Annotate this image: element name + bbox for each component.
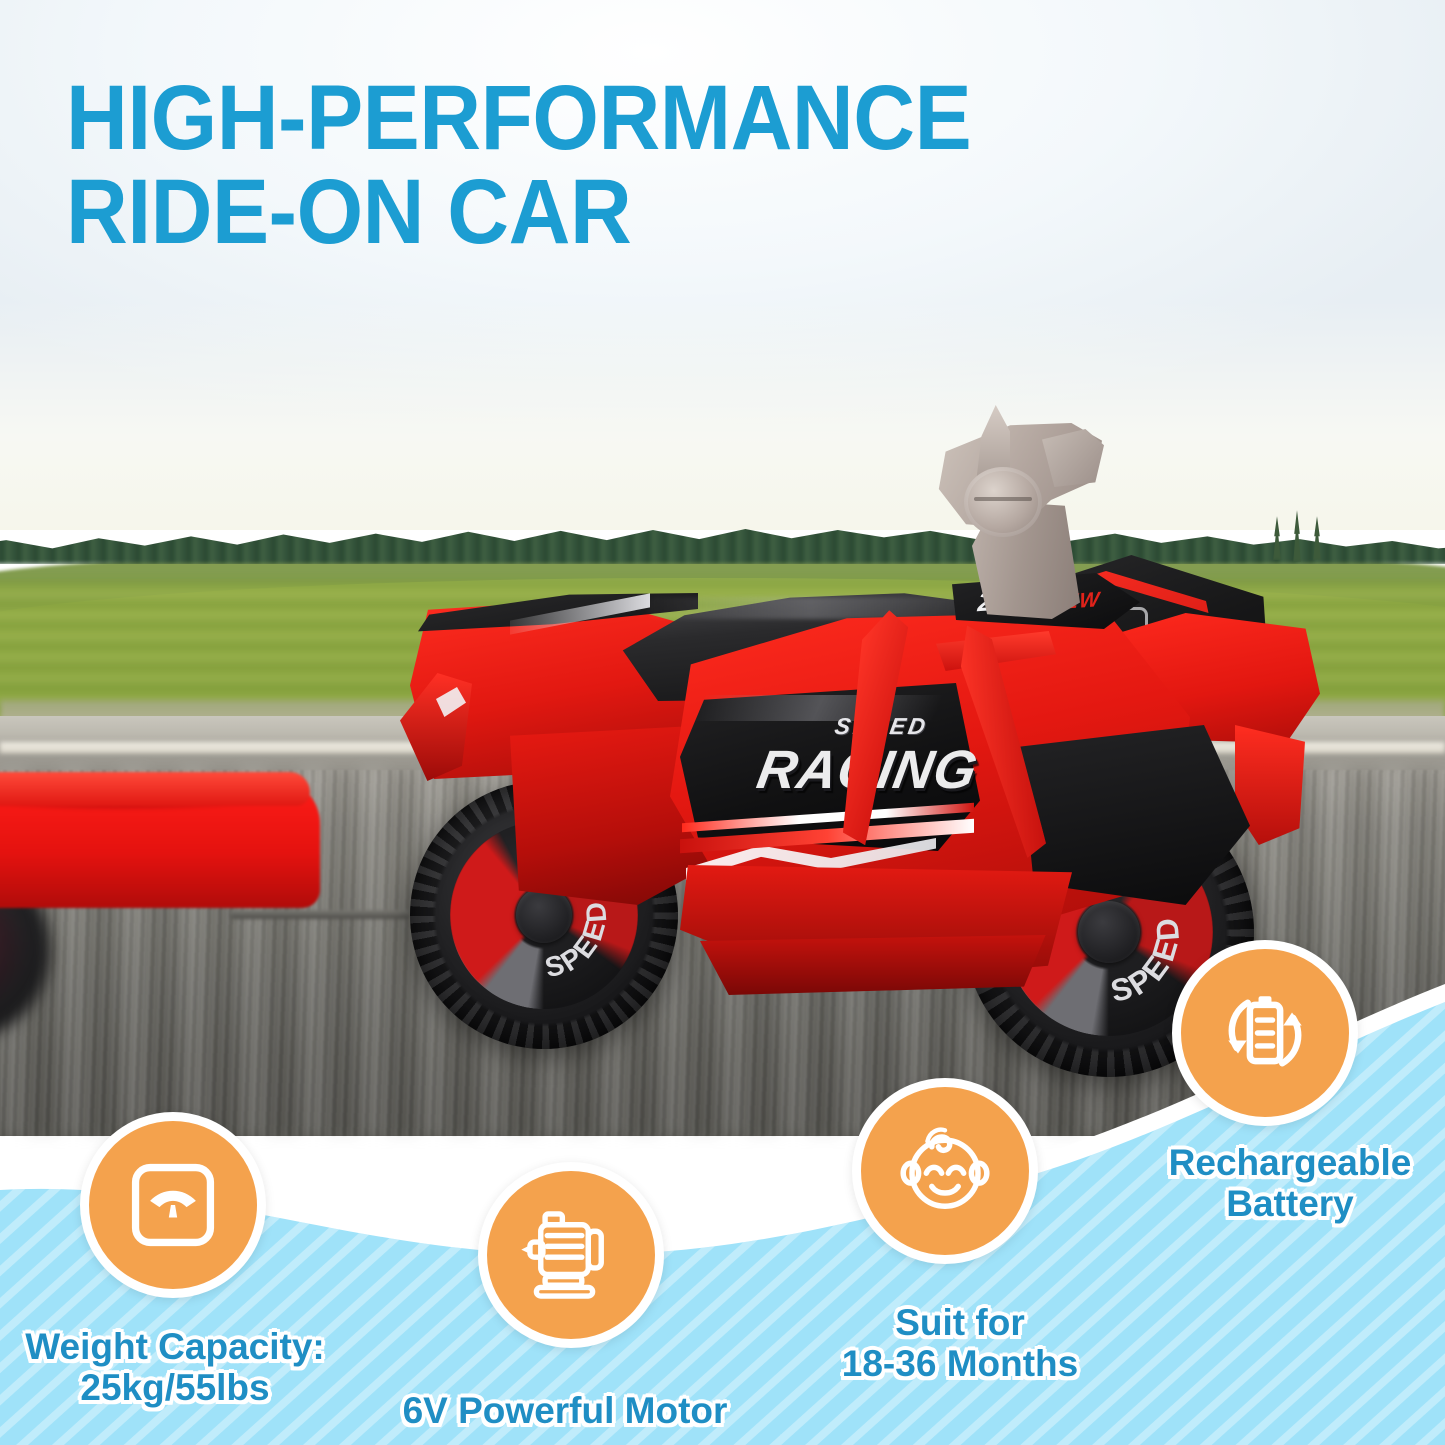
- page-title: HIGH-PERFORMANCE RIDE-ON CAR: [66, 74, 1182, 257]
- feature-badge-battery[interactable]: [1172, 940, 1358, 1126]
- label-line: Weight Capacity:: [0, 1326, 350, 1367]
- title-line-1: HIGH-PERFORMANCE: [66, 67, 971, 169]
- label-line: 18-36 Months: [790, 1343, 1130, 1384]
- feature-label-age-range: Suit for 18-36 Months: [790, 1302, 1130, 1385]
- wheel-center-cap: [1078, 901, 1141, 964]
- label-line: Battery: [1130, 1183, 1445, 1224]
- trailer-rim: [0, 772, 310, 806]
- label-line: Rechargeable: [1130, 1142, 1445, 1183]
- baby-face-icon: [890, 1116, 1000, 1226]
- product-infographic: SPEED SPEED: [0, 0, 1445, 1445]
- feature-label-weight-capacity: Weight Capacity: 25kg/55lbs: [0, 1326, 350, 1409]
- push-handle: [920, 405, 1110, 615]
- title-line-2: RIDE-ON CAR: [66, 168, 1182, 256]
- weight-scale-icon: [121, 1153, 225, 1257]
- trailer: [0, 770, 370, 970]
- handle-knob: [964, 467, 1042, 537]
- rechargeable-battery-icon: [1211, 979, 1319, 1087]
- feature-badge-age-range[interactable]: [852, 1078, 1038, 1264]
- feature-badge-weight-capacity[interactable]: [80, 1112, 266, 1298]
- label-line: Suit for: [790, 1302, 1130, 1343]
- feature-badge-motor[interactable]: [478, 1162, 664, 1348]
- electric-motor-icon: [517, 1201, 625, 1309]
- label-line: 25kg/55lbs: [0, 1367, 350, 1408]
- feature-label-battery: Rechargeable Battery: [1130, 1142, 1445, 1225]
- ride-on-atv: SPEED SPEED: [380, 395, 1310, 1075]
- label-line: 6V Powerful Motor: [370, 1390, 760, 1431]
- rear-fender-tip: [400, 673, 472, 781]
- feature-label-motor: 6V Powerful Motor: [370, 1390, 760, 1431]
